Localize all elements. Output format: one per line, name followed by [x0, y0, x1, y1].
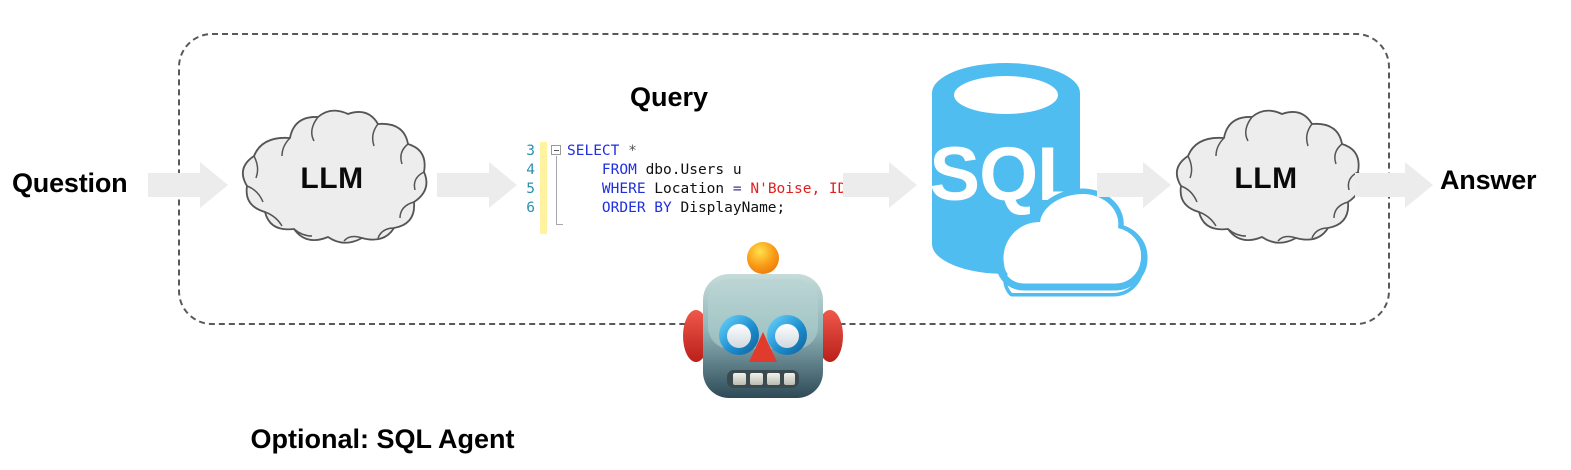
sql-identifier: dbo.Users u: [637, 162, 742, 178]
arrow-shaft: [1355, 173, 1405, 197]
arrow-question-to-llm: [148, 162, 228, 208]
answer-label: Answer: [1440, 165, 1536, 196]
llm-cloud-2: LLM: [1166, 108, 1366, 246]
sql-operator: =: [733, 181, 742, 197]
code-line-content: FROM dbo.Users u: [567, 161, 742, 180]
sql-keyword: SELECT: [567, 143, 619, 159]
line-number: 6: [521, 199, 535, 218]
sql-star: *: [628, 143, 637, 159]
sql-keyword: FROM: [602, 162, 637, 178]
llm-cloud-2-label: LLM: [1166, 108, 1366, 246]
arrow-database-to-llm: [1097, 162, 1171, 208]
arrow-query-to-database: [843, 162, 917, 208]
code-line: 6 ORDER BY DisplayName;: [521, 199, 841, 218]
question-label: Question: [12, 168, 127, 199]
arrow-llm-to-query: [437, 162, 517, 208]
arrow-shaft: [437, 173, 489, 197]
line-number: 3: [521, 142, 535, 161]
line-number: 4: [521, 161, 535, 180]
code-indent: [567, 181, 602, 197]
llm-cloud-1-label: LLM: [232, 108, 432, 246]
arrow-head: [1405, 162, 1433, 208]
arrow-head: [200, 162, 228, 208]
code-indent: [567, 200, 602, 216]
arrow-shaft: [148, 173, 200, 197]
code-space: [619, 143, 628, 159]
code-indent: [567, 162, 602, 178]
arrow-head: [489, 162, 517, 208]
line-number: 5: [521, 180, 535, 199]
sql-code-block: 3 SELECT * 4 FROM dbo.Users u 5 WHERE Lo…: [521, 142, 841, 234]
arrow-shaft: [843, 173, 889, 197]
sql-keyword: ORDER BY: [602, 200, 672, 216]
code-line-content: ORDER BY DisplayName;: [567, 199, 785, 218]
sql-string-literal: N'Boise, ID': [750, 181, 855, 197]
code-line-content: SELECT *: [567, 142, 637, 161]
code-line: 3 SELECT *: [521, 142, 841, 161]
llm-cloud-1: LLM: [232, 108, 432, 246]
sql-agent-caption: Optional: SQL Agent: [0, 424, 1571, 455]
query-label: Query: [630, 82, 708, 113]
arrow-shaft: [1097, 173, 1143, 197]
sql-keyword: WHERE: [602, 181, 646, 197]
sql-agent-caption-text: Optional: SQL Agent: [251, 424, 515, 455]
sql-identifier: DisplayName;: [672, 200, 786, 216]
code-line-content: WHERE Location = N'Boise, ID': [567, 180, 855, 199]
robot-agent-icon: [681, 240, 845, 412]
sql-identifier: Location: [646, 181, 733, 197]
arrow-llm-to-answer: [1355, 162, 1433, 208]
code-line: 5 WHERE Location = N'Boise, ID': [521, 180, 841, 199]
code-line: 4 FROM dbo.Users u: [521, 161, 841, 180]
diagram-canvas: Question LLM Query: [0, 0, 1571, 470]
